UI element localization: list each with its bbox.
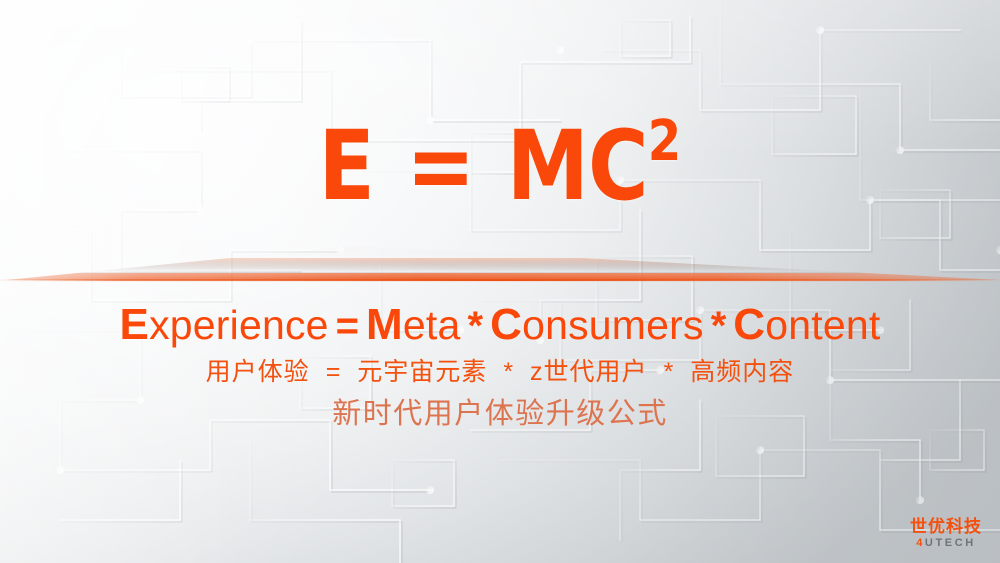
tagline: 新时代用户体验升级公式 bbox=[0, 400, 1000, 429]
logo-latin-name: 4UTECH bbox=[910, 538, 982, 549]
term-experience: Experience bbox=[120, 302, 329, 348]
cn-operator-multiply-1: * bbox=[503, 358, 514, 386]
term-content: Content bbox=[733, 302, 880, 348]
cn-term-genz-user: z世代用户 bbox=[530, 358, 648, 386]
cn-term-high-frequency-content: 高频内容 bbox=[690, 358, 794, 386]
cn-operator-equals: = bbox=[326, 358, 342, 386]
background-tint-overlay bbox=[0, 0, 1000, 563]
formula-equals: = bbox=[406, 110, 474, 222]
term-meta: Meta bbox=[366, 302, 460, 348]
formula-exponent: 2 bbox=[648, 109, 682, 174]
equation-english: Experience=Meta*Consumers*Content bbox=[0, 303, 1000, 347]
brand-logo: 世优科技 4UTECH bbox=[910, 518, 982, 549]
cn-term-user-experience: 用户体验 bbox=[206, 358, 310, 386]
logo-chinese-name: 世优科技 bbox=[910, 518, 982, 535]
slide-canvas: E = MC2 bbox=[0, 0, 1000, 563]
formula-mc: MC bbox=[507, 110, 648, 222]
equation-chinese: 用户体验=元宇宙元素*z世代用户*高频内容 bbox=[0, 360, 1000, 385]
operator-multiply-2: * bbox=[704, 304, 734, 348]
headline-formula: E = MC2 bbox=[0, 118, 1000, 214]
formula-e: E bbox=[319, 110, 375, 222]
operator-multiply-1: * bbox=[461, 304, 491, 348]
term-consumers: Consumers bbox=[490, 302, 704, 348]
operator-equals: = bbox=[329, 304, 366, 348]
cn-term-metaverse: 元宇宙元素 bbox=[357, 358, 487, 386]
cn-operator-multiply-2: * bbox=[664, 358, 675, 386]
